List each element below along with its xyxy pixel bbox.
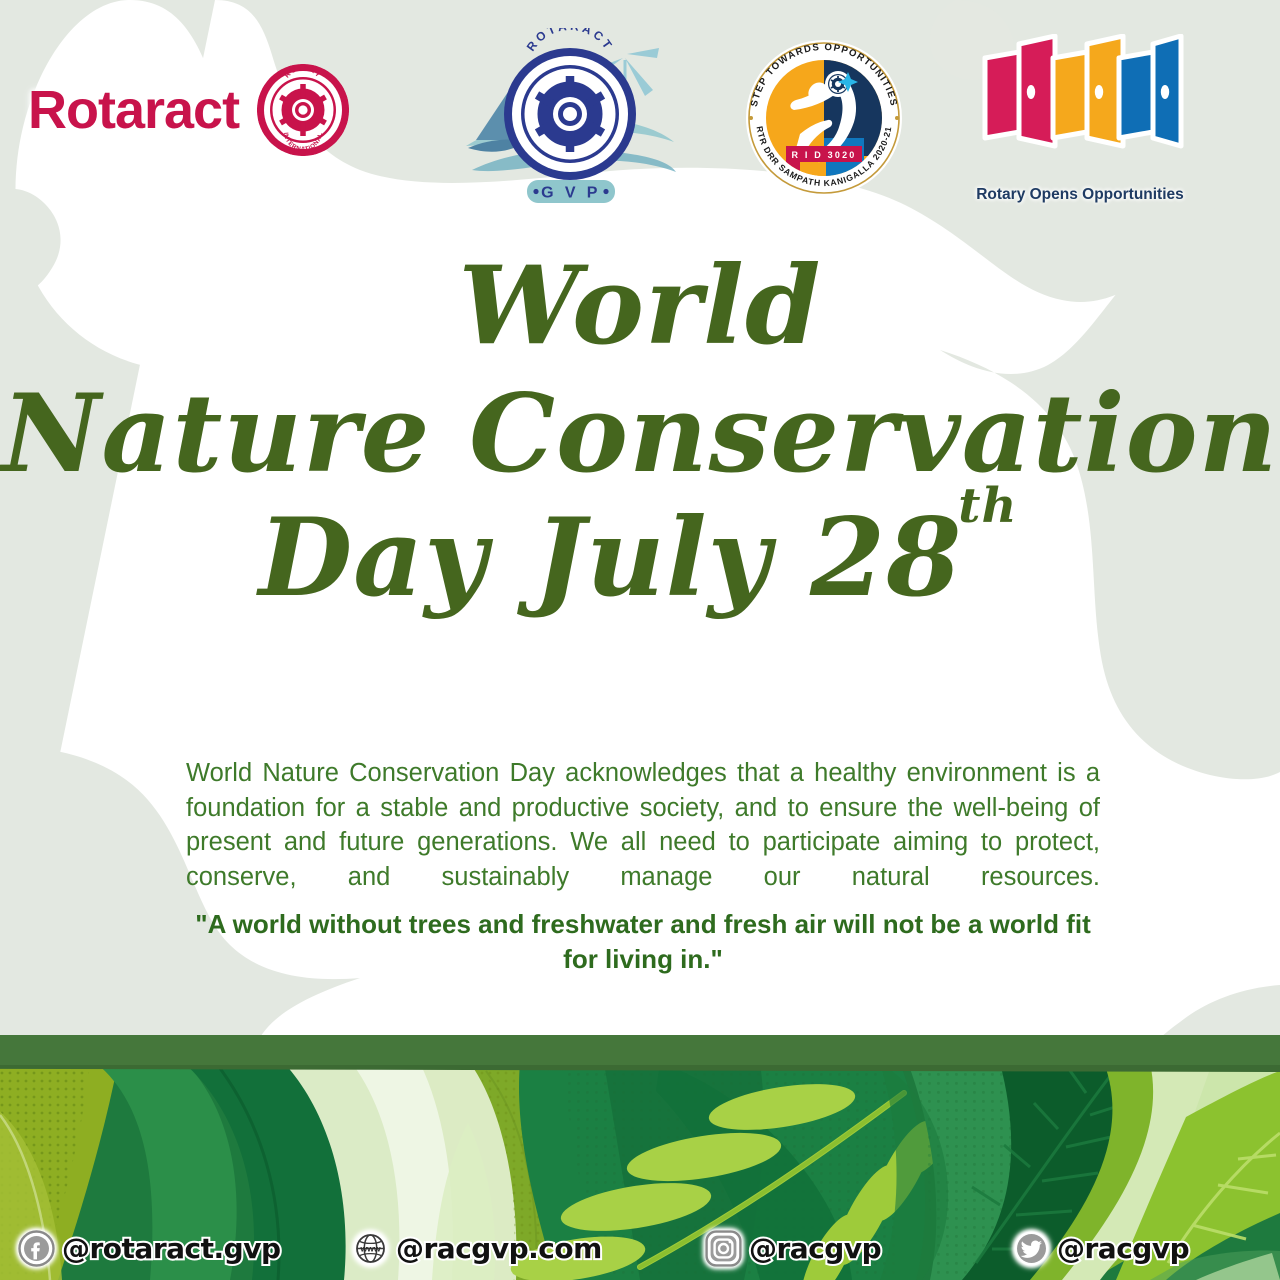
social-item-instagram[interactable]: @racgvp	[705, 1230, 881, 1267]
facebook-handle[interactable]: @rotaract.gvp	[62, 1232, 280, 1265]
instagram-icon[interactable]	[705, 1230, 742, 1267]
body-paragraph: World Nature Conservation Day acknowledg…	[186, 756, 1100, 895]
social-item-website[interactable]: www @racgvp.com	[352, 1230, 602, 1267]
gvp-banner: G V P	[527, 180, 615, 203]
body-text-block: World Nature Conservation Day acknowledg…	[186, 756, 1100, 977]
rotary-wheel-icon: ROTARY INTERNATIONAL	[253, 60, 353, 160]
body-quote: "A world without trees and freshwater an…	[186, 907, 1100, 978]
title-line-3: Day July 28th	[0, 504, 1280, 612]
twitter-icon[interactable]	[1013, 1230, 1050, 1267]
website-handle[interactable]: @racgvp.com	[396, 1232, 602, 1265]
social-item-twitter[interactable]: @racgvp	[1013, 1230, 1189, 1267]
svg-text:www: www	[359, 1243, 380, 1253]
doors-caption: Rotary Opens Opportunities	[975, 186, 1185, 204]
title-line-1: World	[0, 252, 1280, 360]
logo-row: Rotaract	[0, 0, 1280, 215]
website-icon[interactable]: www	[352, 1230, 389, 1267]
title-date-suffix: th	[958, 478, 1017, 534]
svg-text:G V P: G V P	[541, 185, 601, 202]
district-badge-logo: R I D 3020 STEP TOWARDS OPPORTUNITIES RT…	[740, 38, 908, 203]
rotary-opens-opportunities-logo: Rotary Opens Opportunities	[975, 34, 1185, 189]
facebook-icon[interactable]	[18, 1230, 55, 1267]
badge-center-label: R I D 3020	[791, 150, 856, 160]
instagram-handle[interactable]: @racgvp	[749, 1232, 881, 1265]
title-date-text: July 28	[534, 495, 962, 621]
title-date: July 28th	[534, 504, 1021, 612]
rotaract-club-gvp-logo: ROTARACT CLUB G V P	[462, 28, 677, 213]
poster-title: World Nature Conservation Day July 28th	[0, 252, 1280, 612]
social-item-facebook[interactable]: @rotaract.gvp	[18, 1230, 280, 1267]
doors-icon	[975, 34, 1185, 184]
rotaract-logo: Rotaract	[28, 60, 353, 160]
title-line-2: Nature Conservation	[0, 380, 1280, 488]
social-handles-row: @rotaract.gvp www @racgvp.com @	[0, 1222, 1280, 1274]
title-day-word: Day	[259, 504, 488, 612]
twitter-handle[interactable]: @racgvp	[1057, 1232, 1189, 1265]
rotaract-wordmark: Rotaract	[28, 83, 239, 137]
poster-canvas: Rotaract	[0, 0, 1280, 1280]
divider-bar	[0, 1035, 1280, 1067]
